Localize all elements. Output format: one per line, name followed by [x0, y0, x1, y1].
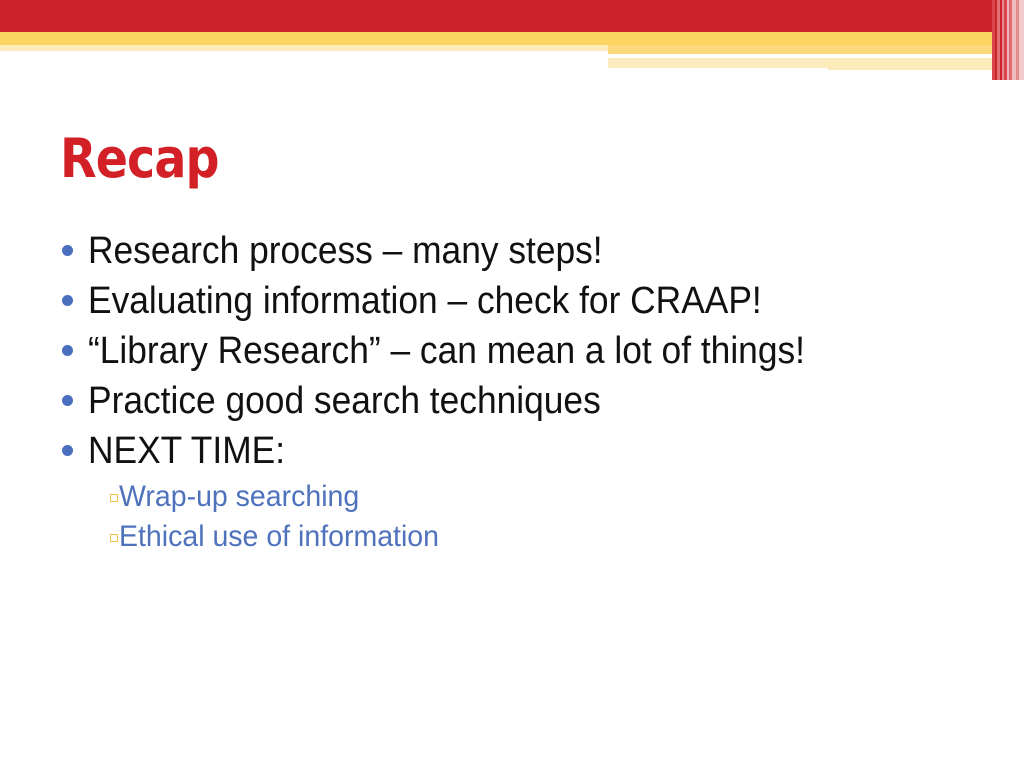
bullet-text: NEXT TIME:	[88, 428, 929, 475]
header-gold-band-right	[608, 45, 1024, 54]
bullet-item: Evaluating information – check for CRAAP…	[62, 278, 992, 325]
bullet-text: Practice good search techniques	[88, 378, 929, 425]
sub-bullet-item: Wrap-up searching	[62, 478, 992, 516]
bullet-item: NEXT TIME:	[62, 428, 992, 475]
filled-dot-bullet-icon	[62, 395, 73, 406]
header-gold-band	[0, 32, 1024, 45]
sub-bullet-text: Ethical use of information	[119, 518, 948, 556]
bullet-marker	[62, 378, 88, 406]
bullet-text: Research process – many steps!	[88, 228, 929, 275]
slide-body-bullet-list: Research process – many steps!Evaluating…	[62, 228, 992, 558]
filled-dot-bullet-icon	[62, 245, 73, 256]
bullet-text: Evaluating information – check for CRAAP…	[88, 278, 929, 325]
header-pale-gold-band-left	[0, 45, 610, 51]
bullet-marker	[62, 228, 88, 256]
bullet-marker	[62, 428, 88, 456]
sub-bullet-marker	[62, 518, 119, 542]
header-red-band	[0, 0, 1024, 32]
hollow-square-bullet-icon	[110, 494, 118, 502]
sub-bullet-marker	[62, 478, 119, 502]
sub-bullet-item: Ethical use of information	[62, 518, 992, 556]
filled-dot-bullet-icon	[62, 445, 73, 456]
bullet-text: “Library Research” – can mean a lot of t…	[88, 328, 929, 375]
bullet-marker	[62, 278, 88, 306]
presentation-slide: Recap Research process – many steps!Eval…	[0, 0, 1024, 768]
header-stripe-10	[1019, 0, 1024, 80]
page-title: Recap	[60, 128, 219, 190]
filled-dot-bullet-icon	[62, 345, 73, 356]
bullet-item: “Library Research” – can mean a lot of t…	[62, 328, 992, 375]
sub-bullet-text: Wrap-up searching	[119, 478, 948, 516]
bullet-item: Research process – many steps!	[62, 228, 992, 275]
filled-dot-bullet-icon	[62, 295, 73, 306]
bullet-item: Practice good search techniques	[62, 378, 992, 425]
bullet-marker	[62, 328, 88, 356]
slide-header-banner	[0, 0, 1024, 80]
hollow-square-bullet-icon	[110, 534, 118, 542]
